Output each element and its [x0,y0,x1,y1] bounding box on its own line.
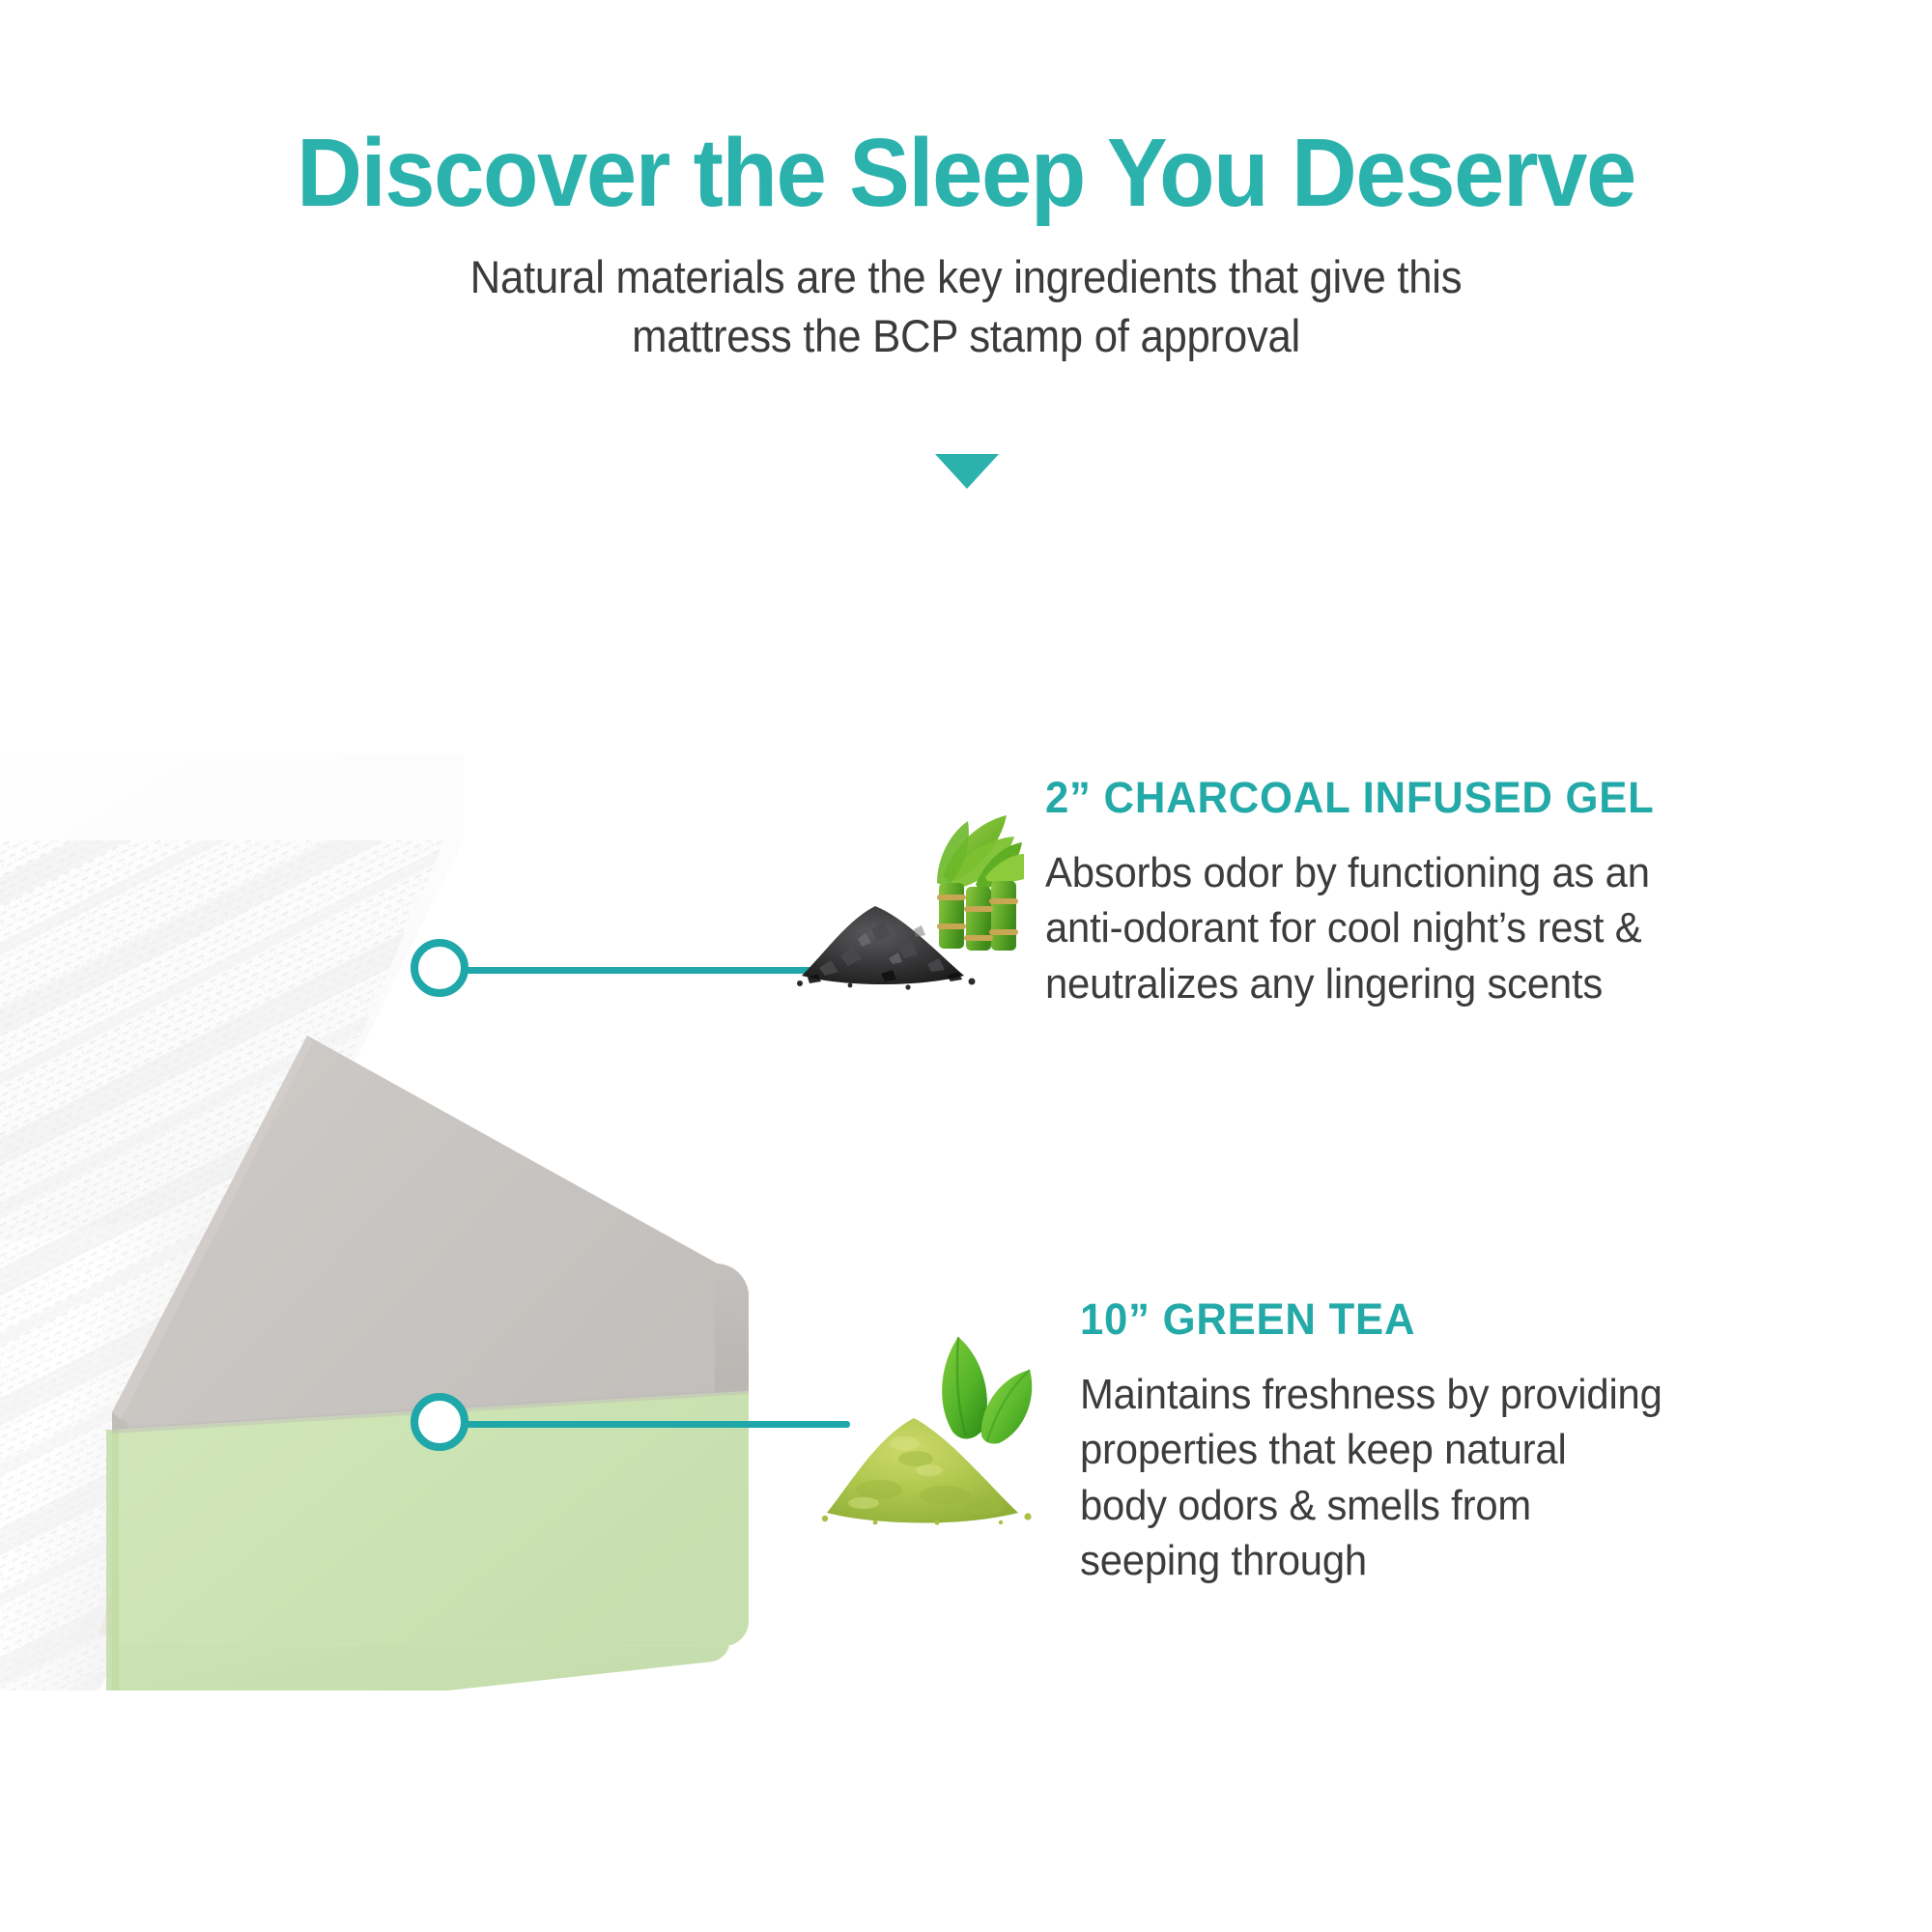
callout-body-line: body odors & smells from [1080,1478,1662,1533]
header: Discover the Sleep You Deserve Natural m… [0,0,1932,365]
connector-dot [411,1393,469,1451]
callout-body-line: seeping through [1080,1533,1662,1588]
connector-line [440,1421,850,1428]
chevron-down-triangle-icon [935,454,999,489]
callout-text: 10” GREEN TEA Maintains freshness by pro… [1080,1294,1692,1588]
callout-heading: 2” CHARCOAL INFUSED GEL [1045,775,1662,820]
callout-body: Absorbs odor by functioning as an anti-o… [1045,845,1650,1011]
connector-line [440,967,826,974]
callout-body-line: properties that keep natural [1080,1422,1662,1477]
callout-body-line: neutralizes any lingering scents [1045,956,1650,1011]
callout-text: 2” CHARCOAL INFUSED GEL Absorbs odor by … [1045,773,1682,1011]
callout-body-line: Absorbs odor by functioning as an [1045,845,1650,900]
page-subtitle: Natural materials are the key ingredient… [68,247,1864,365]
subtitle-line-1: Natural materials are the key ingredient… [68,247,1864,306]
callout-heading: 10” GREEN TEA [1080,1296,1674,1342]
callout-charcoal-gel: 2” CHARCOAL INFUSED GEL Absorbs odor by … [792,773,1682,1011]
subtitle-line-2: mattress the BCP stamp of approval [68,306,1864,365]
callout-green-tea: 10” GREEN TEA Maintains freshness by pro… [821,1294,1692,1588]
callout-body: Maintains freshness by providing propert… [1080,1367,1662,1588]
callout-body-line: Maintains freshness by providing [1080,1367,1662,1422]
callout-body-line: anti-odorant for cool night’s rest & [1045,900,1650,955]
green-tea-powder-leaves-icon [821,1323,1063,1546]
connector-dot [411,939,469,997]
mattress-cutaway-illustration [0,657,821,1690]
page-title: Discover the Sleep You Deserve [58,124,1874,222]
charcoal-bamboo-icon [792,802,1024,1005]
